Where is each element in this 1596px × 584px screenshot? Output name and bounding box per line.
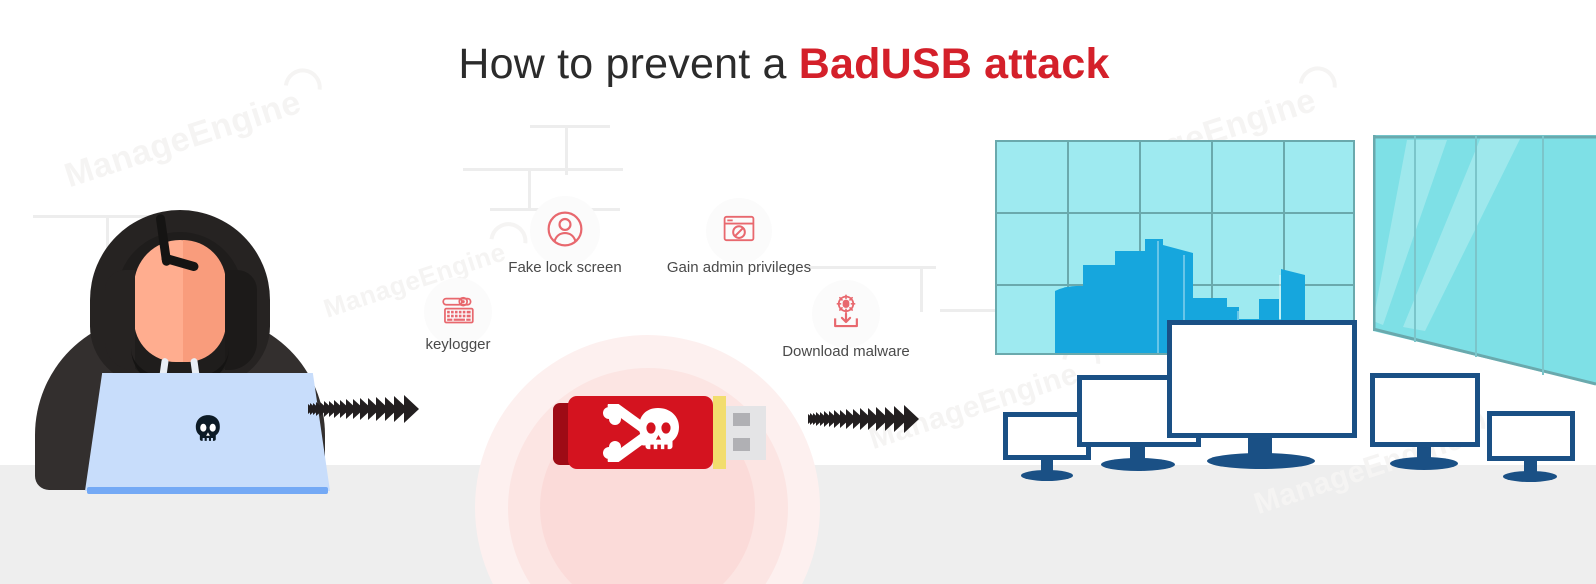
monitor-screen [1487,411,1575,461]
step-label-download-malware: Download malware [776,343,916,360]
usb-connector-slot [733,438,750,451]
step-label-fake-lock-screen: Fake lock screen [495,259,635,276]
workstation-monitor-primary [1167,320,1357,472]
decor-line [920,266,923,312]
monitor-base [1207,453,1315,469]
browser-blocked-icon [721,212,757,250]
usb-connector [726,406,766,460]
step-label-keylogger: keylogger [398,336,518,353]
hacker-hood-fold-left [105,270,135,370]
skull-icon [193,415,223,447]
hacker-laptop-base [87,487,328,494]
monitor-base [1021,470,1073,481]
monitor-base [1101,458,1175,471]
hooded-hacker [35,210,335,490]
workstation-monitor [1487,411,1575,481]
chevron-icon [404,395,419,423]
decor-line [806,266,936,269]
monitor-screen [1370,373,1480,447]
monitor-screen [1167,320,1357,438]
decor-line [530,125,610,128]
usb-band [713,396,726,469]
watermark: ManageEngine [60,83,306,196]
monitor-base [1503,471,1557,482]
chevron-icon [904,405,919,433]
step-bubble-download-malware[interactable] [812,280,880,348]
monitor-base [1390,457,1458,470]
decor-line [940,309,1000,312]
workstation-monitor [1370,373,1480,471]
usb-connector-slot [733,413,750,426]
step-bubble-gain-admin[interactable] [706,198,772,264]
page-title: How to prevent a BadUSB attack [0,40,1568,89]
step-label-gain-admin: Gain admin privileges [659,259,819,276]
page-title-accent: BadUSB attack [799,40,1110,88]
keyboard-magnifier-icon [438,292,478,332]
page-title-plain: How to prevent a [458,40,798,88]
step-bubble-fake-lock-screen[interactable] [530,196,600,266]
bug-download-icon [827,293,865,336]
hacker-hood-fold-right [225,270,257,370]
skull-and-crossbones-icon [602,404,680,462]
flow-arrow-usb-to-target [812,395,919,443]
decor-line [528,168,531,210]
decor-line [463,168,623,171]
infographic-canvas: ManageEngine ManageEngine ManageEngine M… [0,0,1596,584]
user-circle-icon [545,209,585,254]
flow-arrow-attacker-to-usb [312,385,419,433]
